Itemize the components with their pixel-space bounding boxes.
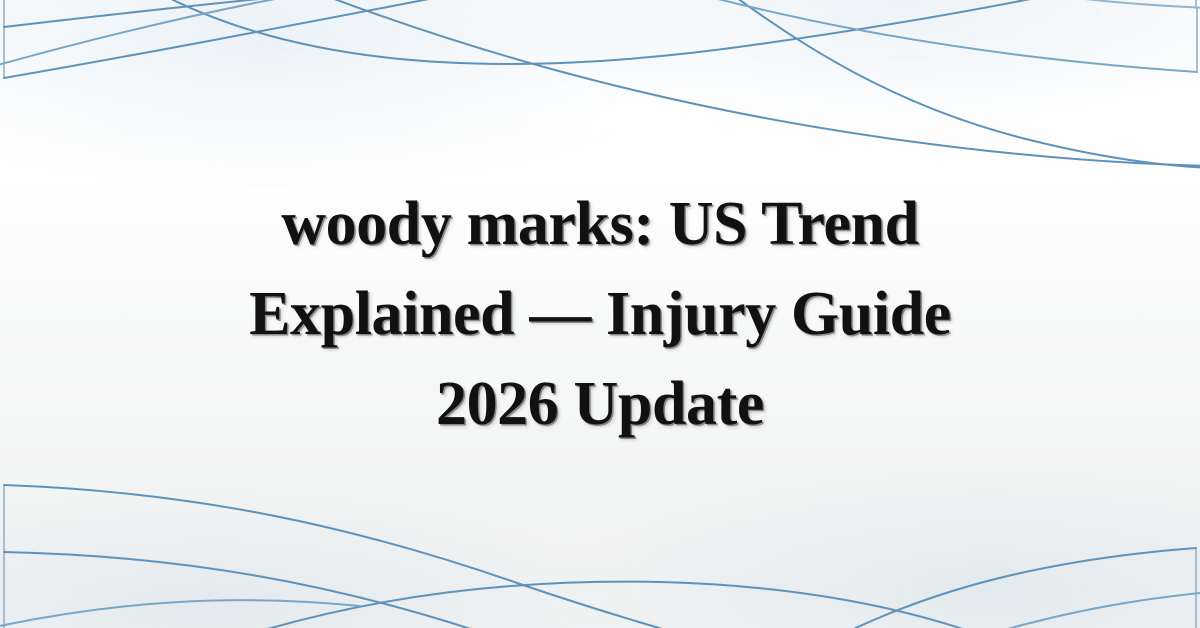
og-share-card: woody marks: US Trend Explained — Injury… [0, 0, 1200, 628]
page-title: woody marks: US Trend Explained — Injury… [120, 179, 1080, 449]
title-container: woody marks: US Trend Explained — Injury… [0, 0, 1200, 628]
page-title-line-2: Explained — Injury Guide [249, 280, 951, 348]
page-title-line-3: 2026 Update [436, 370, 764, 438]
page-title-line-1: woody marks: US Trend [281, 190, 919, 258]
